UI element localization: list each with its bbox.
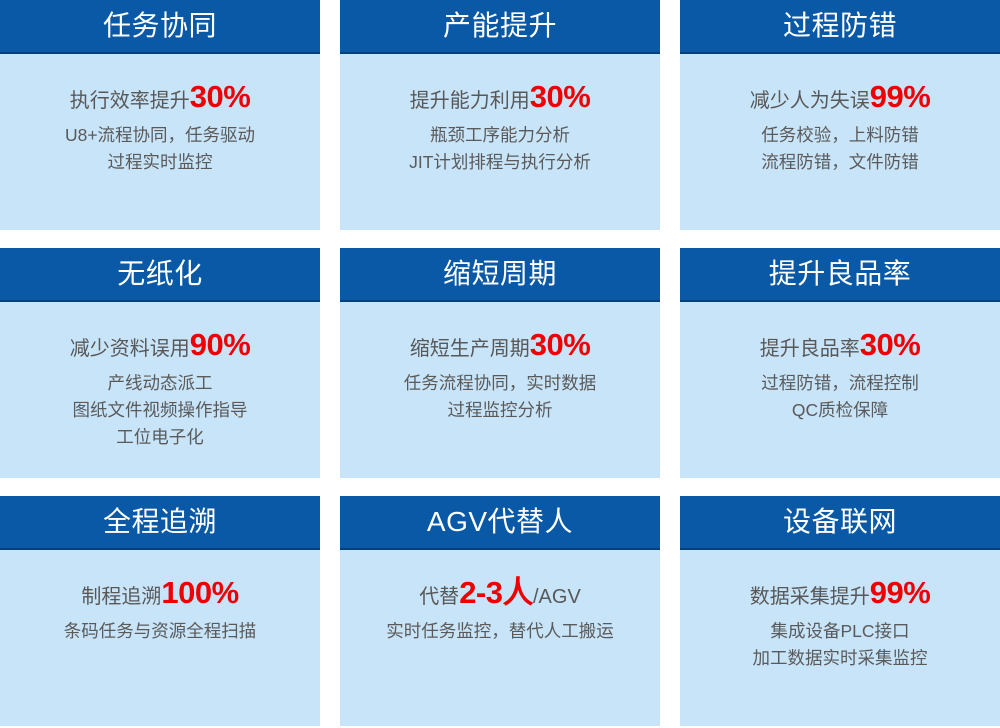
metric-suffix: /AGV	[533, 586, 581, 608]
description-line: 工位电子化	[73, 424, 248, 451]
card-title: 任务协同	[103, 12, 217, 40]
metric-prefix: 减少人为失误	[750, 90, 870, 112]
metric-prefix: 数据采集提升	[750, 586, 870, 608]
card-description: 实时任务监控，替代人工搬运	[386, 618, 614, 645]
card-header: 设备联网	[680, 496, 1000, 550]
card-body: 缩短生产周期30%任务流程协同，实时数据过程监控分析	[340, 302, 660, 478]
benefit-card: 任务协同执行效率提升30%U8+流程协同，任务驱动过程实时监控	[0, 0, 320, 230]
card-title: AGV代替人	[427, 508, 573, 536]
description-line: U8+流程协同，任务驱动	[65, 122, 255, 149]
metric-line: 缩短生产周期30%	[410, 328, 591, 362]
card-description: 集成设备PLC接口加工数据实时采集监控	[753, 618, 928, 672]
benefit-card: 提升良品率提升良品率30%过程防错，流程控制QC质检保障	[680, 248, 1000, 478]
card-description: 过程防错，流程控制QC质检保障	[761, 370, 919, 424]
metric-line: 减少人为失误99%	[750, 80, 931, 114]
card-header: 全程追溯	[0, 496, 320, 550]
benefit-card: 缩短周期缩短生产周期30%任务流程协同，实时数据过程监控分析	[340, 248, 660, 478]
metric-value: 99%	[870, 80, 931, 114]
metric-prefix: 提升良品率	[760, 338, 860, 360]
card-description: 条码任务与资源全程扫描	[64, 618, 257, 645]
description-line: 任务校验，上料防错	[761, 122, 919, 149]
card-header: 缩短周期	[340, 248, 660, 302]
card-header: 任务协同	[0, 0, 320, 54]
metric-value: 99%	[870, 576, 931, 610]
description-line: 过程实时监控	[65, 149, 255, 176]
metric-value: 30%	[190, 80, 251, 114]
card-body: 提升良品率30%过程防错，流程控制QC质检保障	[680, 302, 1000, 478]
card-header: 无纸化	[0, 248, 320, 302]
card-title: 提升良品率	[769, 260, 912, 288]
metric-prefix: 执行效率提升	[70, 90, 190, 112]
card-header: AGV代替人	[340, 496, 660, 550]
card-body: 数据采集提升99%集成设备PLC接口加工数据实时采集监控	[680, 550, 1000, 726]
description-line: 过程监控分析	[404, 397, 597, 424]
metric-prefix: 减少资料误用	[70, 338, 190, 360]
card-title: 无纸化	[117, 260, 203, 288]
metric-value: 30%	[860, 328, 921, 362]
description-line: 实时任务监控，替代人工搬运	[386, 618, 614, 645]
metric-value: 100%	[161, 576, 238, 610]
description-line: 图纸文件视频操作指导	[73, 397, 248, 424]
card-title: 缩短周期	[443, 260, 557, 288]
card-header: 产能提升	[340, 0, 660, 54]
metric-value: 30%	[530, 80, 591, 114]
benefit-card: AGV代替人代替2-3人/AGV实时任务监控，替代人工搬运	[340, 496, 660, 726]
card-header: 过程防错	[680, 0, 1000, 54]
description-line: 条码任务与资源全程扫描	[64, 618, 257, 645]
metric-line: 减少资料误用90%	[70, 328, 251, 362]
benefit-card: 无纸化减少资料误用90%产线动态派工图纸文件视频操作指导工位电子化	[0, 248, 320, 478]
card-description: 产线动态派工图纸文件视频操作指导工位电子化	[73, 370, 248, 451]
card-description: 任务校验，上料防错流程防错，文件防错	[761, 122, 919, 176]
card-body: 制程追溯100%条码任务与资源全程扫描	[0, 550, 320, 726]
metric-line: 代替2-3人/AGV	[419, 576, 581, 610]
card-body: 提升能力利用30%瓶颈工序能力分析JIT计划排程与执行分析	[340, 54, 660, 230]
card-body: 减少资料误用90%产线动态派工图纸文件视频操作指导工位电子化	[0, 302, 320, 478]
metric-line: 提升能力利用30%	[410, 80, 591, 114]
card-description: 瓶颈工序能力分析JIT计划排程与执行分析	[409, 122, 591, 176]
card-body: 执行效率提升30%U8+流程协同，任务驱动过程实时监控	[0, 54, 320, 230]
metric-prefix: 缩短生产周期	[410, 338, 530, 360]
benefit-card: 产能提升提升能力利用30%瓶颈工序能力分析JIT计划排程与执行分析	[340, 0, 660, 230]
description-line: 流程防错，文件防错	[761, 149, 919, 176]
metric-line: 提升良品率30%	[760, 328, 921, 362]
card-title: 设备联网	[783, 508, 897, 536]
description-line: 任务流程协同，实时数据	[404, 370, 597, 397]
description-line: 集成设备PLC接口	[753, 618, 928, 645]
description-line: 产线动态派工	[73, 370, 248, 397]
metric-value: 90%	[190, 328, 251, 362]
metric-value: 30%	[530, 328, 591, 362]
description-line: 加工数据实时采集监控	[753, 645, 928, 672]
metric-prefix: 代替	[419, 586, 459, 608]
description-line: JIT计划排程与执行分析	[409, 149, 591, 176]
benefit-card: 设备联网数据采集提升99%集成设备PLC接口加工数据实时采集监控	[680, 496, 1000, 726]
card-title: 过程防错	[783, 12, 897, 40]
metric-line: 数据采集提升99%	[750, 576, 931, 610]
card-body: 减少人为失误99%任务校验，上料防错流程防错，文件防错	[680, 54, 1000, 230]
metric-value: 2-3人	[459, 576, 533, 610]
benefit-card: 全程追溯制程追溯100%条码任务与资源全程扫描	[0, 496, 320, 726]
card-description: 任务流程协同，实时数据过程监控分析	[404, 370, 597, 424]
benefit-card-grid: 任务协同执行效率提升30%U8+流程协同，任务驱动过程实时监控产能提升提升能力利…	[0, 0, 1000, 728]
benefit-card: 过程防错减少人为失误99%任务校验，上料防错流程防错，文件防错	[680, 0, 1000, 230]
metric-line: 执行效率提升30%	[70, 80, 251, 114]
card-description: U8+流程协同，任务驱动过程实时监控	[65, 122, 255, 176]
card-title: 产能提升	[443, 12, 557, 40]
metric-prefix: 制程追溯	[81, 586, 161, 608]
card-body: 代替2-3人/AGV实时任务监控，替代人工搬运	[340, 550, 660, 726]
card-title: 全程追溯	[103, 508, 217, 536]
metric-prefix: 提升能力利用	[410, 90, 530, 112]
description-line: 瓶颈工序能力分析	[409, 122, 591, 149]
description-line: 过程防错，流程控制	[761, 370, 919, 397]
metric-line: 制程追溯100%	[81, 576, 238, 610]
description-line: QC质检保障	[761, 397, 919, 424]
card-header: 提升良品率	[680, 248, 1000, 302]
